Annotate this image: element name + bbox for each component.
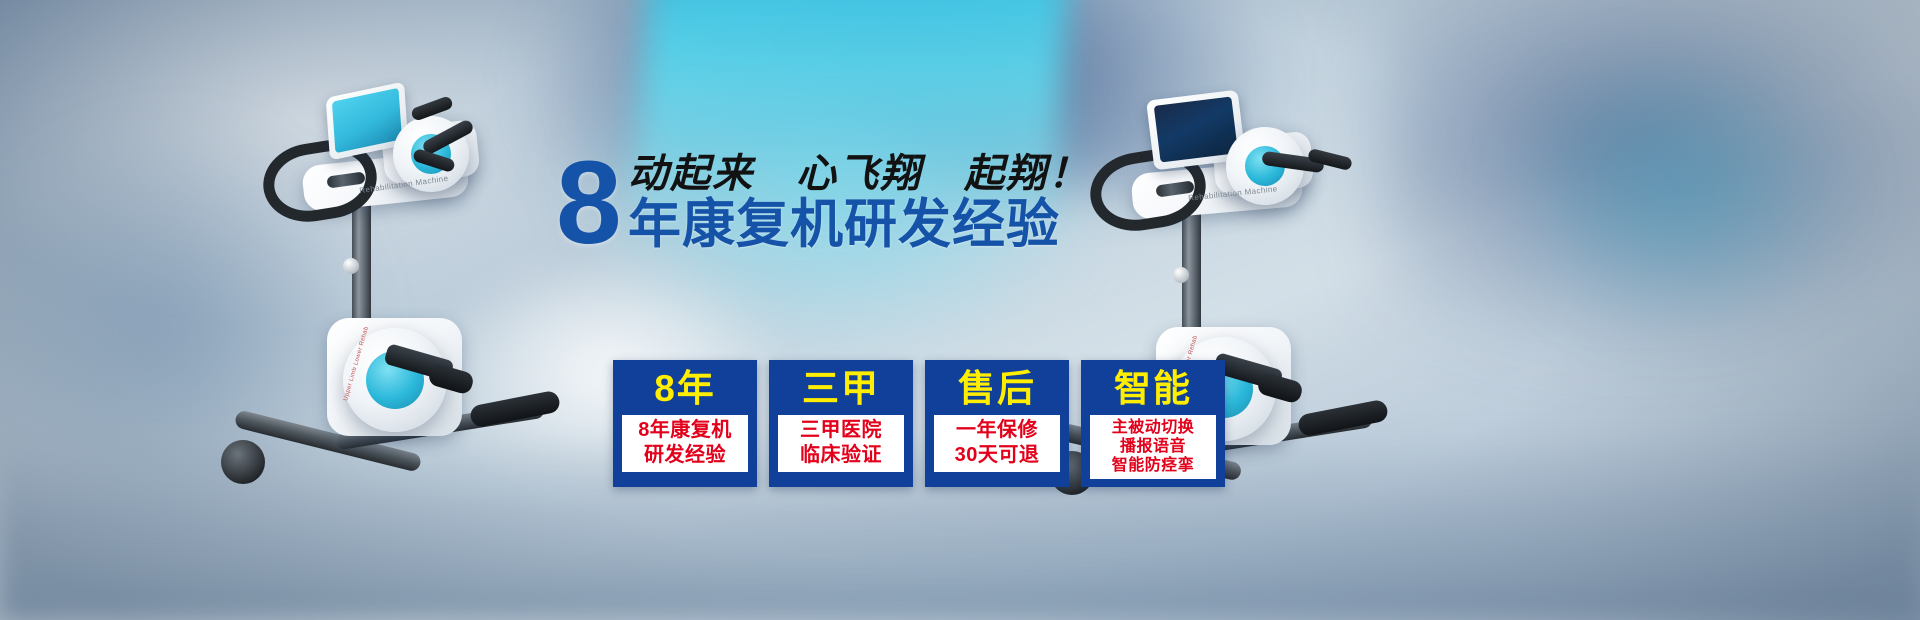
feature-box-smart[interactable]: 智能 主被动切换 播报语音 智能防痉挛 — [1081, 360, 1225, 487]
headline-big-number: 8 — [556, 144, 622, 262]
feature-box-hospital-line1: 三甲医院 — [778, 418, 904, 443]
feature-box-aftersales-panel: 一年保修 30天可退 — [934, 415, 1060, 472]
feature-box-aftersales-line2: 30天可退 — [934, 443, 1060, 468]
feature-box-years-line1: 8年康复机 — [622, 418, 748, 443]
bike-caster-rear — [221, 440, 265, 484]
headline-tagline: 动起来 心飞翔 起翔！ — [628, 152, 1090, 196]
bike2-post-knob — [1173, 267, 1189, 283]
feature-box-years-panel: 8年康复机 研发经验 — [622, 415, 748, 472]
feature-box-hospital-line2: 临床验证 — [778, 443, 904, 468]
feature-box-aftersales[interactable]: 售后 一年保修 30天可退 — [925, 360, 1069, 487]
feature-box-aftersales-line1: 一年保修 — [934, 418, 1060, 443]
feature-box-smart-line2: 播报语音 — [1090, 437, 1216, 456]
bike2-display-screen — [1154, 96, 1238, 162]
feature-box-smart-line1: 主被动切换 — [1090, 418, 1216, 437]
bike-display-screen — [332, 88, 402, 154]
bike-foot-front — [469, 390, 562, 429]
feature-box-row: 8年 8年康复机 研发经验 三甲 三甲医院 临床验证 售后 一年保修 30天可退… — [613, 360, 1225, 487]
bike-post-knob — [343, 258, 359, 274]
feature-box-hospital-panel: 三甲医院 临床验证 — [778, 415, 904, 472]
feature-box-years[interactable]: 8年 8年康复机 研发经验 — [613, 360, 757, 487]
feature-box-aftersales-title: 售后 — [958, 367, 1036, 411]
feature-box-years-line2: 研发经验 — [622, 443, 748, 468]
rehabilitation-bike-left: Upper Limb Lower Rehab Rehabilitation Ma… — [215, 80, 615, 510]
feature-box-smart-title: 智能 — [1114, 367, 1192, 411]
headline-block: 8 动起来 心飞翔 起翔！ 年康复机研发经验 — [556, 148, 1076, 268]
feature-box-hospital[interactable]: 三甲 三甲医院 临床验证 — [769, 360, 913, 487]
feature-box-smart-panel: 主被动切换 播报语音 智能防痉挛 — [1090, 415, 1216, 479]
feature-box-hospital-title: 三甲 — [802, 367, 880, 411]
headline-subtitle: 年康复机研发经验 — [628, 196, 1060, 254]
promo-banner: Upper Limb Lower Rehab Rehabilitation Ma… — [0, 0, 1920, 620]
feature-box-years-title: 8年 — [654, 367, 716, 411]
feature-box-smart-line3: 智能防痉挛 — [1090, 456, 1216, 475]
